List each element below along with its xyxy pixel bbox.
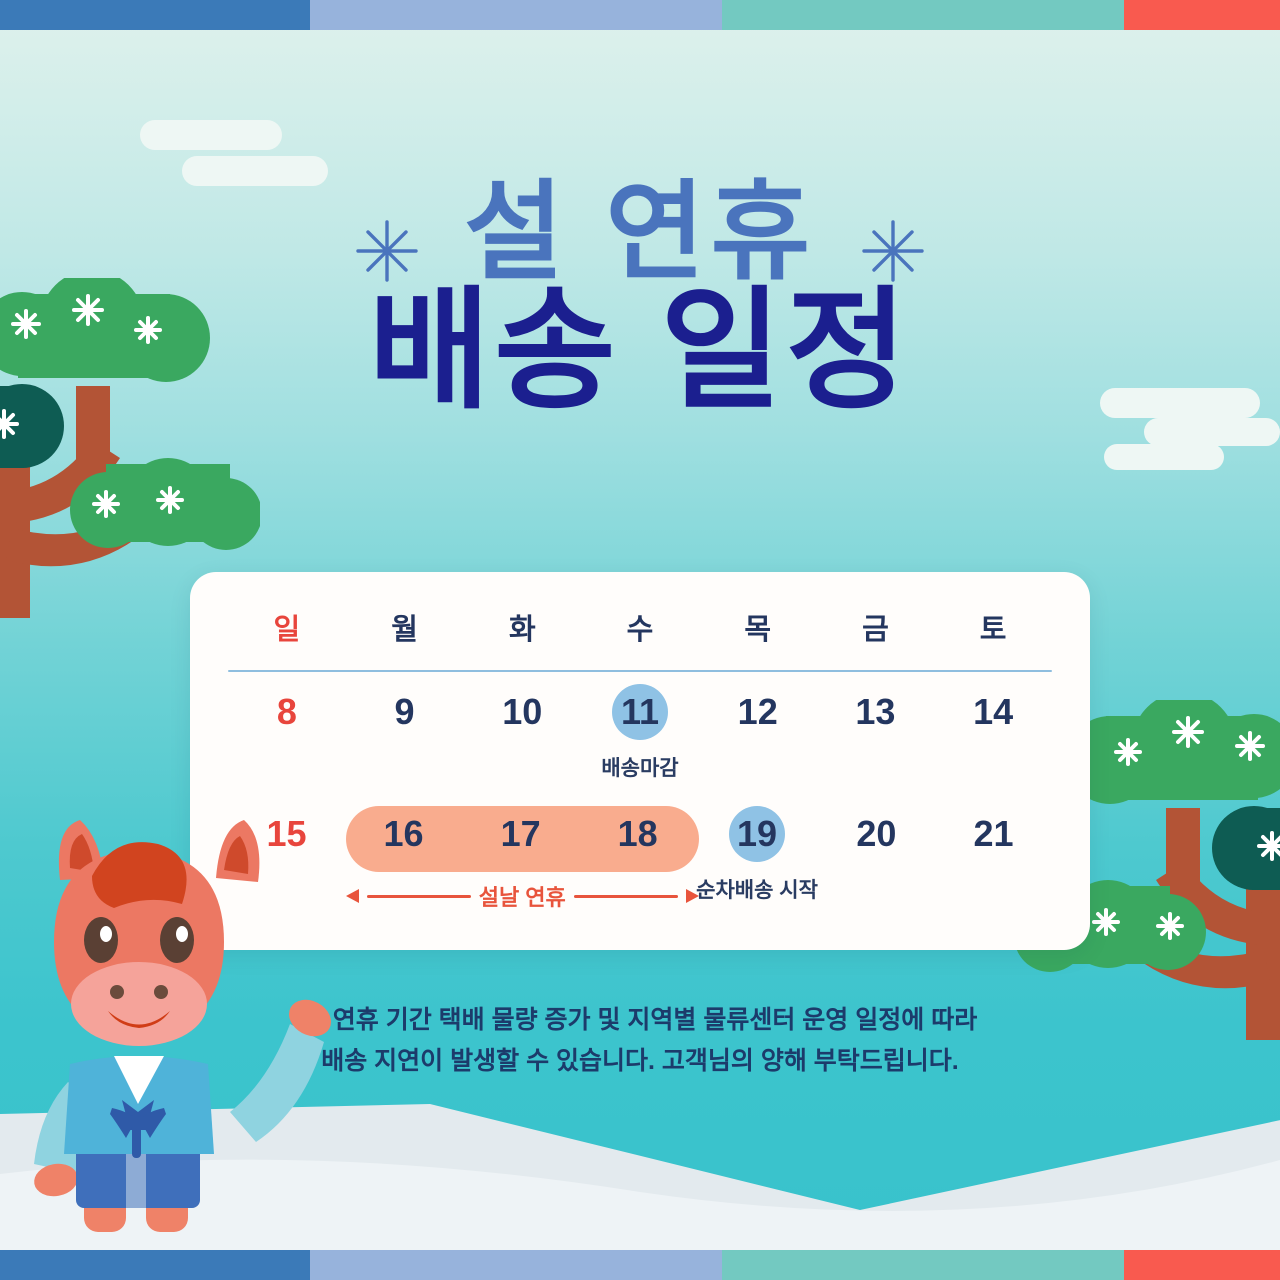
day-number: 17 [501, 816, 541, 852]
day-number: 20 [856, 816, 896, 852]
weekday-wed: 수 [581, 606, 699, 648]
color-bar-segment-4 [1124, 0, 1280, 30]
color-bar-segment-2 [310, 1250, 722, 1280]
color-bar-segment-3 [722, 1250, 1124, 1280]
day-cell[interactable]: 14 [934, 672, 1052, 794]
day-number: 10 [502, 694, 542, 730]
mascot-mane [92, 842, 187, 908]
poster-title: 설 연휴 배송 일정 [0, 178, 1280, 419]
weekday-fri: 금 [817, 606, 935, 648]
day-number-highlighted: 11 [612, 684, 668, 740]
color-bar-segment-4 [1124, 1250, 1280, 1280]
weekday-sat: 토 [934, 606, 1052, 648]
day-note-delivery-resume: 순차배송 시작 [696, 874, 818, 904]
title-line-1: 설 연휴 [464, 171, 816, 292]
mascot-hanbok-jacket [64, 1056, 214, 1158]
arrow-line-left [367, 895, 471, 898]
day-number: 8 [277, 694, 297, 730]
sparkle-right-icon [858, 216, 928, 286]
day-note-delivery-cutoff: 배송마감 [601, 752, 678, 782]
mascot-right-arm [230, 993, 337, 1142]
mascot-nostril-right [154, 985, 168, 999]
day-cell[interactable]: 8 [228, 672, 346, 794]
weekday-sun: 일 [228, 606, 346, 648]
day-cell-delivery-resume[interactable]: 19 순차배송 시작 [696, 794, 818, 916]
mascot-muzzle [71, 962, 207, 1046]
day-number: 12 [738, 694, 778, 730]
weekday-mon: 월 [346, 606, 464, 648]
calendar-weekday-header: 일 월 화 수 목 금 토 [190, 572, 1090, 648]
arrow-line-right [574, 895, 678, 898]
holiday-range-annotation: 설날 연휴 [346, 880, 699, 912]
day-cell[interactable]: 21 [935, 794, 1052, 916]
color-bar-segment-3 [722, 0, 1124, 30]
arrow-left-head-icon [346, 889, 359, 903]
day-number: 18 [618, 816, 658, 852]
day-number: 9 [395, 694, 415, 730]
mascot-nostril-left [110, 985, 124, 999]
calendar-week-1: 8 9 10 11 배송마감 12 [228, 672, 1052, 794]
color-bar-segment-1 [0, 0, 310, 30]
title-line-2: 배송 일정 [0, 282, 1280, 419]
day-number: 16 [384, 816, 424, 852]
day-cell[interactable]: 10 [463, 672, 581, 794]
day-cell[interactable]: 9 [346, 672, 464, 794]
day-cell-delivery-cutoff[interactable]: 11 배송마감 [581, 672, 699, 794]
day-cell[interactable]: 13 [817, 672, 935, 794]
day-cell[interactable]: 12 [699, 672, 817, 794]
day-number: 14 [973, 694, 1013, 730]
day-number: 13 [855, 694, 895, 730]
day-number-highlighted: 19 [729, 806, 785, 862]
cloud-left-decoration [140, 120, 340, 186]
sparkle-left-icon [352, 216, 422, 286]
horse-mascot-illustration [18, 812, 338, 1252]
weekday-tue: 화 [463, 606, 581, 648]
day-number: 21 [973, 816, 1013, 852]
color-bar-segment-2 [310, 0, 722, 30]
poster-canvas: 설 연휴 배송 일정 일 월 화 수 목 [0, 0, 1280, 1280]
calendar-week-2: 15 16 17 18 19 순차배송 시작 [228, 794, 1052, 916]
day-cell[interactable]: 20 [818, 794, 935, 916]
top-color-bar [0, 0, 1280, 30]
color-bar-segment-1 [0, 1250, 310, 1280]
bottom-color-bar [0, 1250, 1280, 1280]
arrow-right-head-icon [686, 889, 699, 903]
weekday-thu: 목 [699, 606, 817, 648]
holiday-range-label: 설날 연휴 [479, 880, 566, 912]
